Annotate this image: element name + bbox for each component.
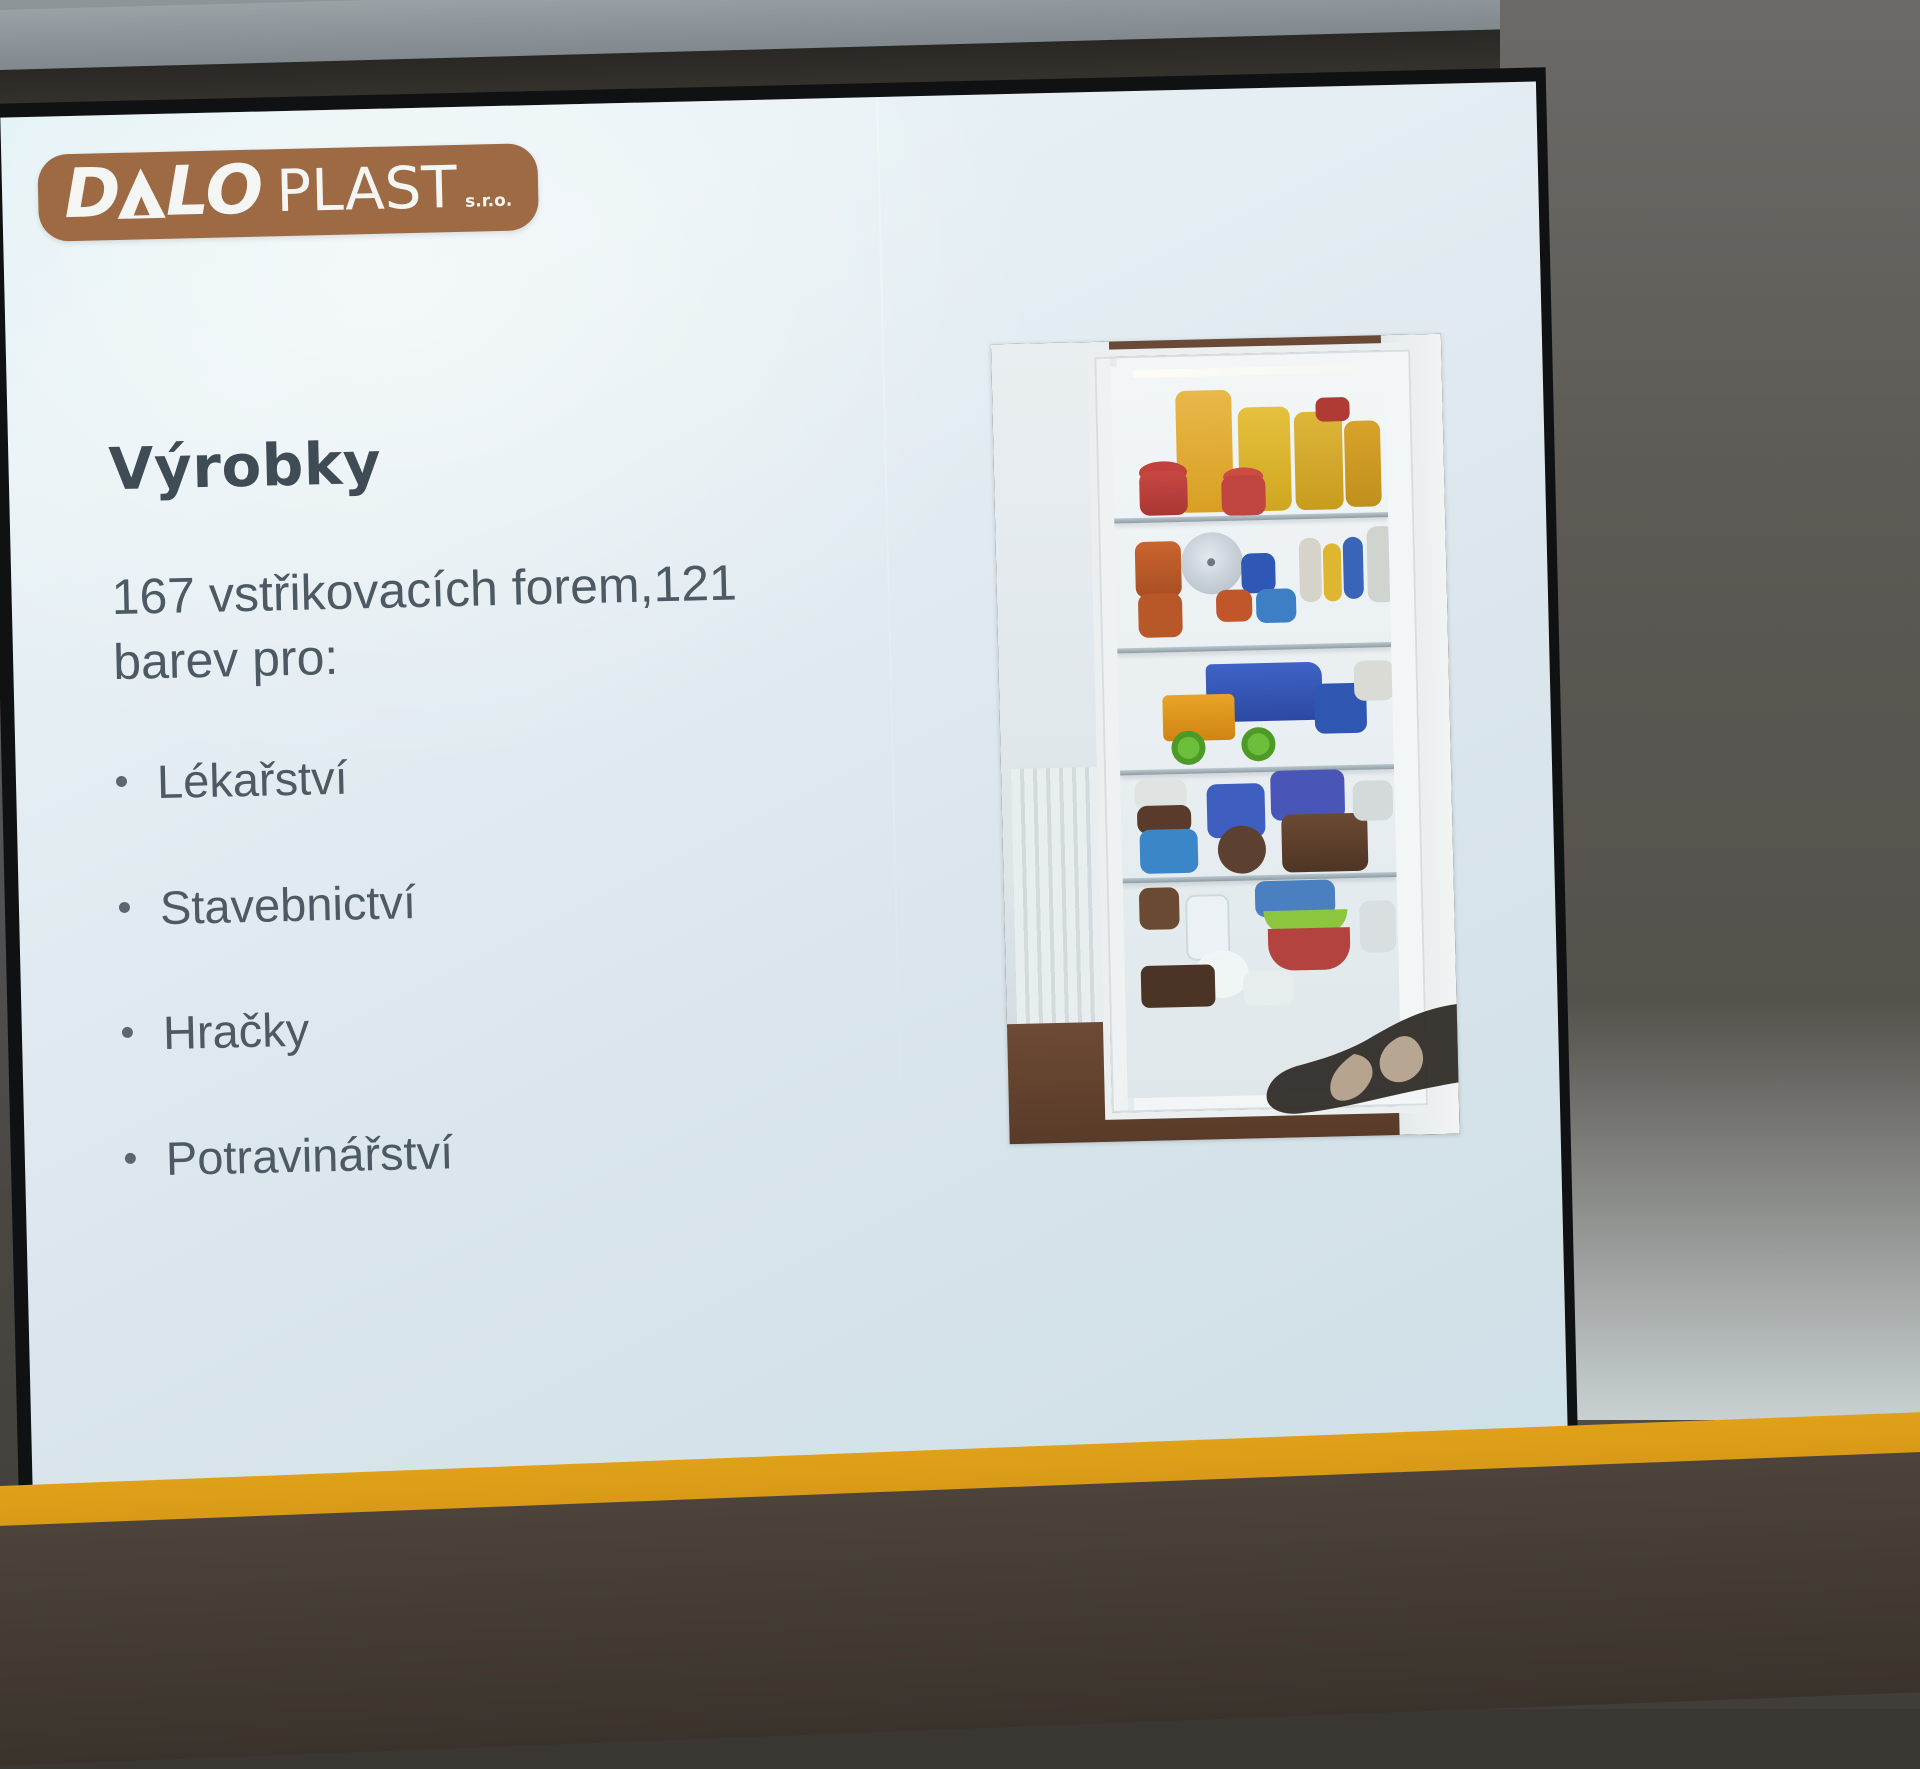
product-item bbox=[1171, 730, 1206, 765]
product-item bbox=[1299, 538, 1323, 603]
slide-title: Výrobky bbox=[108, 416, 929, 503]
logo-plast-text: PLAST bbox=[276, 157, 458, 221]
product-item bbox=[1315, 397, 1350, 422]
product-item bbox=[1359, 900, 1396, 953]
bullet-dot-icon bbox=[122, 1027, 133, 1038]
logo-letter-d: D bbox=[63, 163, 120, 227]
product-item bbox=[1241, 727, 1276, 762]
product-item bbox=[1141, 964, 1216, 1008]
product-item bbox=[1243, 970, 1294, 1005]
slide-canvas: D LO PLAST s.r.o. Výrobky 167 vstřiko bbox=[0, 81, 1569, 1526]
cabinet-lamp-icon bbox=[1133, 365, 1355, 378]
product-item bbox=[1268, 927, 1351, 971]
room-background: D LO PLAST s.r.o. Výrobky 167 vstřiko bbox=[0, 0, 1920, 1709]
cabinet-interior bbox=[1110, 360, 1401, 1098]
product-item bbox=[1281, 813, 1368, 873]
bullet-dot-icon bbox=[119, 902, 130, 913]
bullet-dot-icon bbox=[116, 776, 127, 787]
photo-radiator bbox=[1011, 762, 1104, 1044]
product-item bbox=[1241, 553, 1276, 594]
product-item bbox=[1139, 829, 1198, 874]
product-item bbox=[1138, 593, 1183, 638]
product-item bbox=[1354, 660, 1395, 701]
product-item bbox=[1366, 526, 1396, 603]
product-item bbox=[1139, 887, 1180, 930]
product-item bbox=[1135, 541, 1182, 598]
slide-content: Výrobky 167 vstřikovacích forem,121 bare… bbox=[108, 416, 947, 1260]
bullet-label: Hračky bbox=[162, 1004, 309, 1059]
product-item bbox=[1217, 825, 1266, 874]
cabinet-shelf bbox=[1120, 764, 1394, 775]
slide-paragraph: 167 vstřikovacích forem,121 barev pro: bbox=[111, 547, 884, 695]
product-item bbox=[1256, 588, 1297, 623]
product-cabinet-photo bbox=[991, 334, 1460, 1144]
product-item bbox=[1139, 471, 1188, 516]
bullet-list: Lékařství Stavebnictví Hračky Potravinář… bbox=[115, 738, 945, 1186]
list-item: Hračky bbox=[121, 989, 942, 1060]
product-item bbox=[1352, 780, 1393, 821]
list-item: Lékařství bbox=[115, 738, 936, 809]
triangle-a-icon bbox=[115, 166, 168, 221]
projection-screen: D LO PLAST s.r.o. Výrobky 167 vstřiko bbox=[0, 67, 1579, 1538]
list-item: Stavebnictví bbox=[118, 863, 939, 934]
bullet-label: Potravinářství bbox=[165, 1126, 453, 1184]
logo-letters-lo: LO bbox=[165, 160, 263, 225]
display-cabinet bbox=[1087, 342, 1435, 1120]
logo-sro-text: s.r.o. bbox=[465, 190, 513, 217]
logo-dalo-text: D LO bbox=[63, 160, 263, 227]
product-item bbox=[1216, 589, 1253, 622]
product-item bbox=[1343, 537, 1364, 599]
list-item: Potravinářství bbox=[124, 1115, 945, 1186]
product-item bbox=[1323, 543, 1342, 601]
bullet-label: Lékařství bbox=[156, 752, 348, 808]
product-item bbox=[1344, 420, 1382, 507]
bullet-label: Stavebnictví bbox=[159, 876, 416, 934]
product-item bbox=[1294, 411, 1344, 510]
company-logo: D LO PLAST s.r.o. bbox=[37, 143, 539, 241]
product-item bbox=[1221, 475, 1266, 516]
bullet-dot-icon bbox=[125, 1153, 136, 1164]
cabinet-shelf bbox=[1117, 642, 1391, 653]
